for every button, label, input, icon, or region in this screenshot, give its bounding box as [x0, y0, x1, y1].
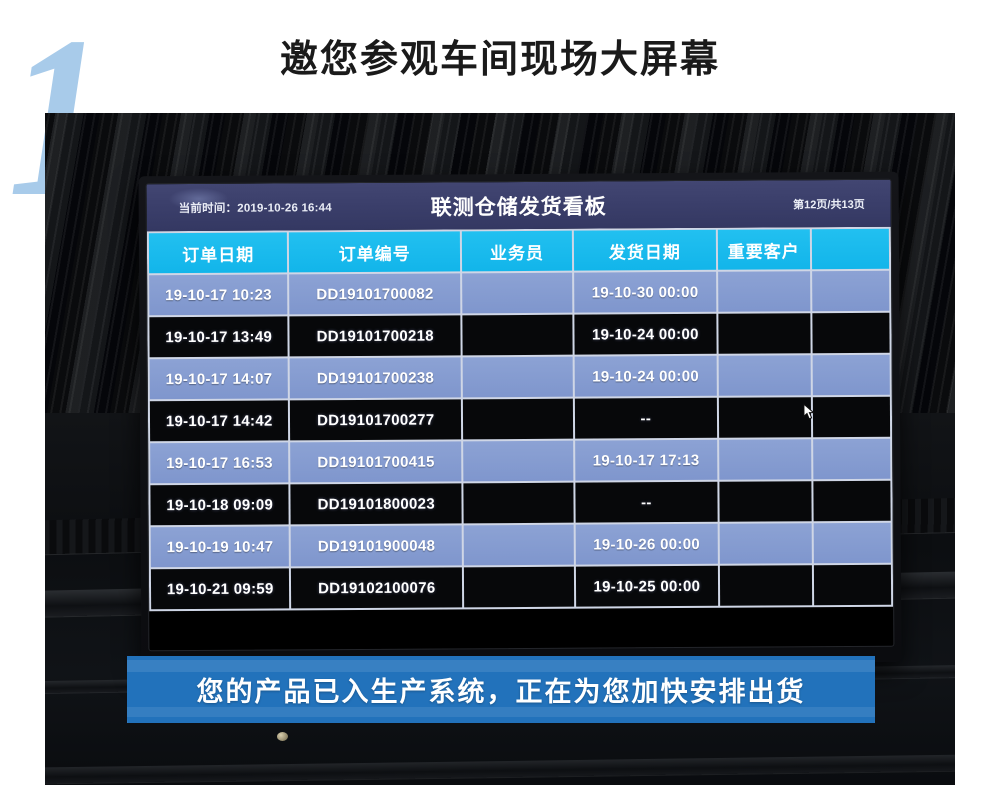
cell-extra: [812, 313, 890, 353]
cell-order-date: 19-10-17 16:53: [150, 442, 289, 483]
cell-key-customer: [719, 439, 811, 480]
cell-order-no: DD19101700082: [290, 273, 461, 314]
table-row: 19-10-17 14:07 DD19101700238 19-10-24 00…: [150, 355, 890, 400]
column-header-salesman: 业务员: [462, 231, 572, 272]
column-header-key-customer: 重要客户: [718, 229, 810, 270]
dashboard-screen: 当前时间：2019-10-26 16:44 联测仓储发货看板 第12页/共13页…: [147, 180, 894, 651]
column-header-ship-date: 发货日期: [574, 230, 716, 271]
cell-order-no: DD19101700218: [290, 315, 461, 356]
page-title: 邀您参观车间现场大屏幕: [0, 28, 1000, 83]
cell-order-date: 19-10-21 09:59: [151, 568, 290, 609]
cell-extra: [813, 523, 891, 563]
cell-ship-date: --: [575, 482, 717, 523]
cell-order-no: DD19101900048: [291, 525, 462, 566]
cell-extra: [812, 271, 890, 311]
display-bezel: 当前时间：2019-10-26 16:44 联测仓储发货看板 第12页/共13页…: [146, 179, 895, 652]
table-row: 19-10-17 16:53 DD19101700415 19-10-17 17…: [150, 439, 890, 484]
cell-order-no: DD19102100076: [291, 567, 462, 608]
table-row: 19-10-19 10:47 DD19101900048 19-10-26 00…: [151, 523, 891, 568]
cell-ship-date: 19-10-30 00:00: [574, 272, 716, 313]
table-row: 19-10-18 09:09 DD19101800023 --: [150, 481, 890, 526]
cell-salesman: [463, 357, 573, 398]
wall-display: 当前时间：2019-10-26 16:44 联测仓储发货看板 第12页/共13页…: [139, 172, 902, 667]
cell-extra: [813, 439, 891, 479]
cell-order-no: DD19101700277: [290, 399, 461, 440]
cell-order-date: 19-10-17 13:49: [149, 316, 288, 357]
cell-key-customer: [718, 271, 810, 312]
cell-key-customer: [718, 355, 810, 396]
beam-screw: [277, 732, 288, 741]
cell-salesman: [463, 399, 573, 440]
cell-order-date: 19-10-18 09:09: [150, 484, 289, 525]
cell-key-customer: [719, 397, 811, 438]
cell-salesman: [462, 273, 572, 314]
dashboard-title: 联测仓储发货看板: [147, 188, 891, 223]
shipment-table: 订单日期 订单编号 业务员 发货日期 重要客户 19-10-17 10:23 D…: [147, 227, 893, 612]
cell-key-customer: [719, 523, 811, 564]
table-header-row: 订单日期 订单编号 业务员 发货日期 重要客户: [149, 229, 889, 274]
column-header-extra: [811, 229, 889, 269]
promo-banner: 您的产品已入生产系统，正在为您加快安排出货: [127, 656, 875, 723]
cell-salesman: [464, 525, 574, 566]
cell-salesman: [463, 315, 573, 356]
cell-salesman: [463, 441, 573, 482]
column-header-order-no: 订单编号: [289, 231, 460, 272]
cell-order-date: 19-10-17 10:23: [149, 274, 288, 315]
table-row: 19-10-17 14:42 DD19101700277 --: [150, 397, 890, 442]
cell-ship-date: --: [575, 398, 717, 439]
cell-order-date: 19-10-17 14:42: [150, 400, 289, 441]
cell-extra: [813, 565, 891, 605]
cell-salesman: [464, 567, 574, 608]
table-row: 19-10-21 09:59 DD19102100076 19-10-25 00…: [151, 565, 891, 610]
cell-ship-date: 19-10-17 17:13: [575, 440, 717, 481]
table-row: 19-10-17 13:49 DD19101700218 19-10-24 00…: [149, 313, 889, 358]
cell-extra: [812, 355, 890, 395]
cell-key-customer: [718, 313, 810, 354]
cell-order-date: 19-10-17 14:07: [150, 358, 289, 399]
column-header-order-date: 订单日期: [149, 232, 288, 273]
cell-ship-date: 19-10-24 00:00: [574, 356, 716, 397]
cell-order-no: DD19101800023: [291, 483, 462, 524]
cell-extra: [812, 397, 890, 437]
table-row: 19-10-17 10:23 DD19101700082 19-10-30 00…: [149, 271, 889, 316]
dashboard-header: 当前时间：2019-10-26 16:44 联测仓储发货看板 第12页/共13页: [147, 180, 891, 232]
cell-order-no: DD19101700238: [290, 357, 461, 398]
table-body: 19-10-17 10:23 DD19101700082 19-10-30 00…: [149, 271, 891, 610]
banner-text: 您的产品已入生产系统，正在为您加快安排出货: [197, 670, 806, 709]
pagination-indicator: 第12页/共13页: [793, 195, 865, 211]
cell-ship-date: 19-10-26 00:00: [575, 524, 717, 565]
cell-ship-date: 19-10-24 00:00: [574, 314, 716, 355]
cell-salesman: [464, 483, 574, 524]
cell-key-customer: [720, 565, 812, 606]
cell-extra: [813, 481, 891, 521]
cell-ship-date: 19-10-25 00:00: [576, 566, 718, 607]
cell-key-customer: [719, 481, 811, 522]
cell-order-no: DD19101700415: [291, 441, 462, 482]
cell-order-date: 19-10-19 10:47: [151, 526, 290, 567]
